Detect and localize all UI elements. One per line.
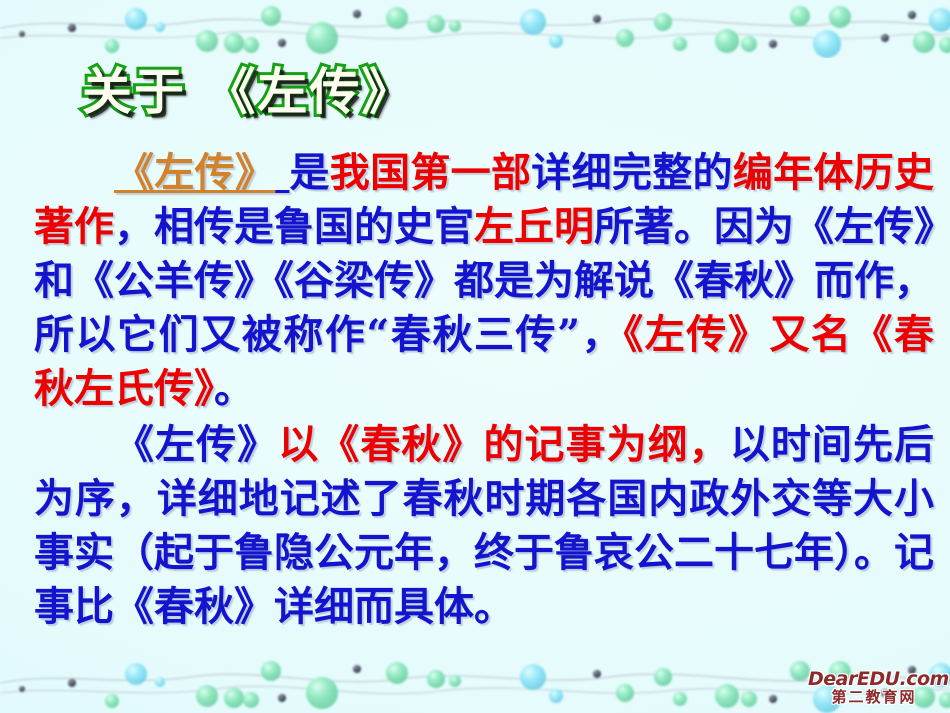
bottom-bead-border-graphic bbox=[0, 655, 950, 713]
run-zuozhuan-2: 《左传》 bbox=[114, 421, 278, 468]
bottom-bead-border bbox=[0, 655, 950, 713]
page-title: 关于 《左传》 bbox=[82, 56, 413, 128]
slide-canvas: 关于 《左传》 《左传》 是我国第一部详细完整的编年体历史著作，相传是鲁国的史官… bbox=[0, 0, 950, 713]
paragraph-1: 《左传》 是我国第一部详细完整的编年体历史著作，相传是鲁国的史官左丘明所著。因为… bbox=[34, 146, 934, 416]
title-block: 关于 《左传》 bbox=[0, 56, 950, 134]
run-shi: 是 bbox=[289, 149, 329, 196]
run-yi-chunqiu-gangling: 以《春秋》的记事为纲， bbox=[278, 421, 730, 468]
top-bead-border-graphic bbox=[0, 0, 950, 58]
run-zuoqiuming: 左丘明 bbox=[474, 203, 594, 250]
run-xiangxi-wanzheng: 详细完整的 bbox=[531, 149, 733, 196]
run-xiangchuan-shiguan: ，相传是鲁国的史官 bbox=[114, 203, 474, 250]
body-copy: 《左传》 是我国第一部详细完整的编年体历史著作，相传是鲁国的史官左丘明所著。因为… bbox=[34, 146, 934, 634]
watermark-chinese: 第二教育网 bbox=[808, 690, 940, 705]
watermark-english: DearEDU.com bbox=[808, 670, 940, 689]
run-woguo-diyibu: 我国第一部 bbox=[330, 149, 532, 196]
run-spacer bbox=[275, 149, 289, 196]
paragraph-2: 《左传》以《春秋》的记事为纲，以时间先后为序，详细地记述了春秋时期各国内政外交等… bbox=[34, 418, 934, 634]
watermark-logo: DearEDU.com 第二教育网 bbox=[808, 670, 940, 705]
top-bead-border bbox=[0, 0, 950, 58]
run-period-1: 。 bbox=[214, 365, 254, 412]
run-zuozhuan-title: 《左传》 bbox=[114, 149, 275, 196]
